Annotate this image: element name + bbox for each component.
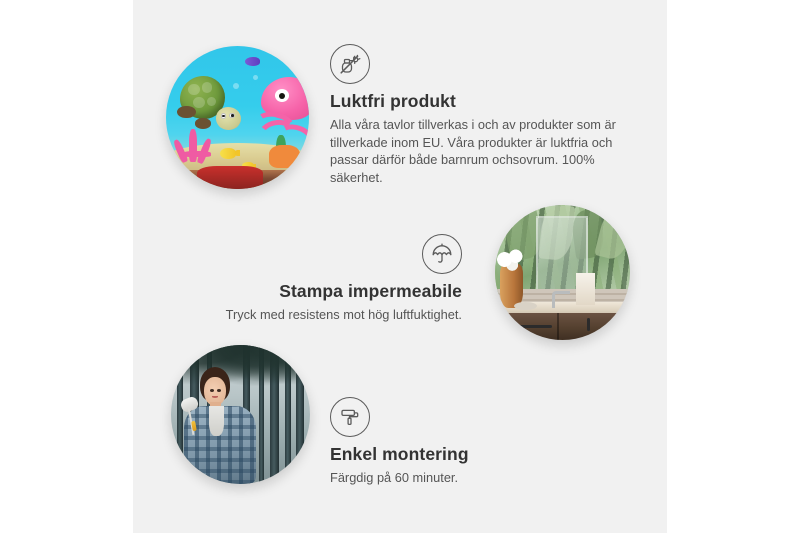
feature-title: Luktfri produkt	[330, 91, 630, 112]
bathroom-tropical-wallpaper-circle-image	[495, 205, 630, 340]
product-features-panel: Luktfri produkt Alla våra tavlor tillver…	[0, 0, 800, 533]
no-odour-spray-icon	[330, 44, 370, 84]
feature-waterproof-print: Stampa impermeabile Tryck med resistens …	[180, 234, 462, 324]
feature-title: Stampa impermeabile	[180, 281, 462, 302]
underwater-cartoon-circle-image	[166, 46, 309, 189]
woman-illustration	[182, 367, 257, 484]
feature-title: Enkel montering	[330, 444, 610, 465]
feature-easy-assembly: Enkel montering Färgdig på 60 minuter.	[330, 397, 610, 487]
umbrella-icon	[422, 234, 462, 274]
feature-odour-free: Luktfri produkt Alla våra tavlor tillver…	[330, 44, 630, 186]
feature-body: Alla våra tavlor tillverkas i och av pro…	[330, 116, 630, 186]
feature-body: Tryck med resistens mot hög luftfuktighe…	[180, 306, 462, 324]
woman-with-paint-roller-circle-image	[171, 345, 310, 484]
paint-roller-icon	[330, 397, 370, 437]
turtle-illustration	[176, 76, 239, 133]
paint-roller-prop	[181, 398, 207, 435]
feature-body: Färgdig på 60 minuter.	[330, 469, 610, 487]
